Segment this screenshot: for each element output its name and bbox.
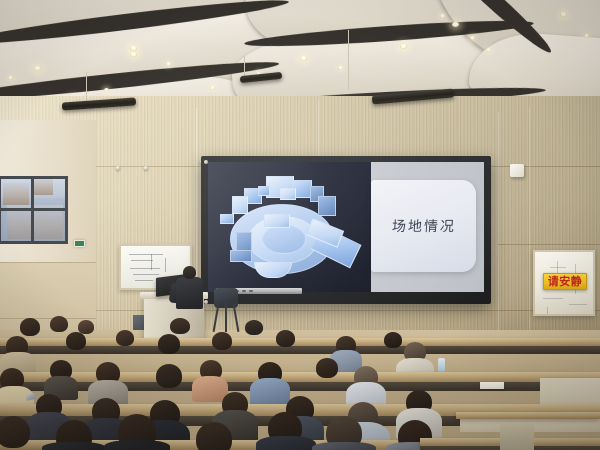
model-block	[258, 186, 270, 196]
wall-seam	[0, 262, 96, 263]
screen-mount-stud	[204, 160, 208, 164]
display-button[interactable]	[242, 290, 246, 292]
slide-title-callout: 场地情况	[371, 180, 476, 272]
desk-front-panel	[0, 346, 600, 354]
desk-row	[0, 372, 600, 382]
whiteboard-writing	[131, 260, 153, 261]
display-button[interactable]	[249, 290, 253, 292]
student-head	[276, 330, 295, 347]
ceiling-downlight	[470, 36, 475, 40]
ceiling-downlight	[486, 48, 491, 52]
ceiling-downlight	[400, 44, 407, 49]
student-head	[156, 364, 182, 388]
student-head	[0, 416, 30, 448]
model-block	[230, 250, 252, 262]
ceiling-downlight	[8, 76, 13, 80]
ceiling-downlight	[130, 52, 137, 57]
student-torso	[312, 442, 376, 450]
student-head	[78, 320, 94, 334]
student-head	[212, 332, 232, 350]
whiteboard-writing	[130, 268, 160, 269]
smartphone	[25, 393, 35, 401]
student-head	[116, 330, 134, 346]
student-head	[66, 332, 86, 350]
model-block	[232, 196, 248, 214]
model-ring-core	[262, 224, 306, 254]
whiteboard-writing	[569, 304, 587, 305]
notebook-paper	[480, 382, 504, 389]
whiteboard-writing	[550, 267, 566, 268]
window-building-view	[33, 179, 53, 195]
whiteboard-writing	[135, 280, 153, 281]
whiteboard-writing	[133, 274, 159, 275]
student-torso	[256, 436, 316, 450]
window	[0, 176, 68, 244]
ceiling-downlight	[300, 56, 307, 61]
wall-mount-stud	[116, 166, 120, 170]
wall-mount-stud	[144, 166, 148, 170]
model-block	[220, 214, 234, 224]
screen-mount-stud	[204, 300, 208, 304]
student-head	[20, 318, 40, 336]
bim-model-render	[214, 174, 364, 282]
wall-seam	[498, 244, 600, 245]
student-head	[384, 332, 402, 348]
ceiling-downlight	[130, 46, 137, 51]
desk-row	[456, 412, 600, 419]
quiet-sign-text: 请安静	[548, 276, 583, 287]
whiteboard-writing	[165, 258, 166, 272]
exit-sign-icon	[74, 240, 85, 247]
window-mullion	[31, 179, 34, 241]
model-block	[280, 188, 296, 200]
wall-seam	[318, 100, 319, 160]
student-head	[158, 334, 180, 354]
presenter-head	[183, 266, 196, 279]
whiteboard-writing	[129, 254, 163, 255]
ceiling-downlight	[338, 66, 343, 70]
fixture-suspension-rod	[348, 30, 349, 90]
slide-title-text: 场地情况	[391, 216, 456, 236]
student-head	[196, 422, 232, 450]
student-head	[170, 318, 190, 334]
student-torso	[42, 442, 106, 450]
ceiling-downlight	[452, 22, 459, 27]
projection-screen[interactable]: 场地情况	[208, 162, 484, 292]
ceiling-downlight	[210, 86, 215, 90]
whiteboard-writing	[547, 307, 548, 314]
ceiling-downlight	[440, 14, 445, 18]
model-block	[318, 196, 336, 216]
ceiling-downlight	[34, 66, 41, 71]
student-head	[50, 316, 68, 332]
desk-row	[0, 338, 600, 346]
model-block	[264, 214, 290, 228]
wall-speaker	[510, 164, 524, 177]
student-head	[316, 358, 338, 378]
lecture-hall-photo: 请安静 场地情况	[0, 0, 600, 450]
presenter-body	[176, 277, 203, 309]
fixture-suspension-rod	[86, 72, 87, 104]
audience-area	[0, 316, 600, 450]
ceiling-downlight	[166, 62, 171, 66]
ceiling-downlight	[560, 12, 567, 17]
window-building-view	[3, 183, 29, 205]
model-block-base	[254, 262, 292, 278]
ceiling-downlight	[584, 34, 589, 38]
ceiling-downlight	[104, 88, 109, 92]
please-be-quiet-sign: 请安静	[543, 273, 587, 290]
desk-side-panel	[500, 424, 534, 450]
student-torso	[250, 378, 290, 406]
student-torso	[104, 440, 170, 450]
whiteboard-writing	[543, 298, 563, 299]
student-head	[245, 320, 263, 335]
